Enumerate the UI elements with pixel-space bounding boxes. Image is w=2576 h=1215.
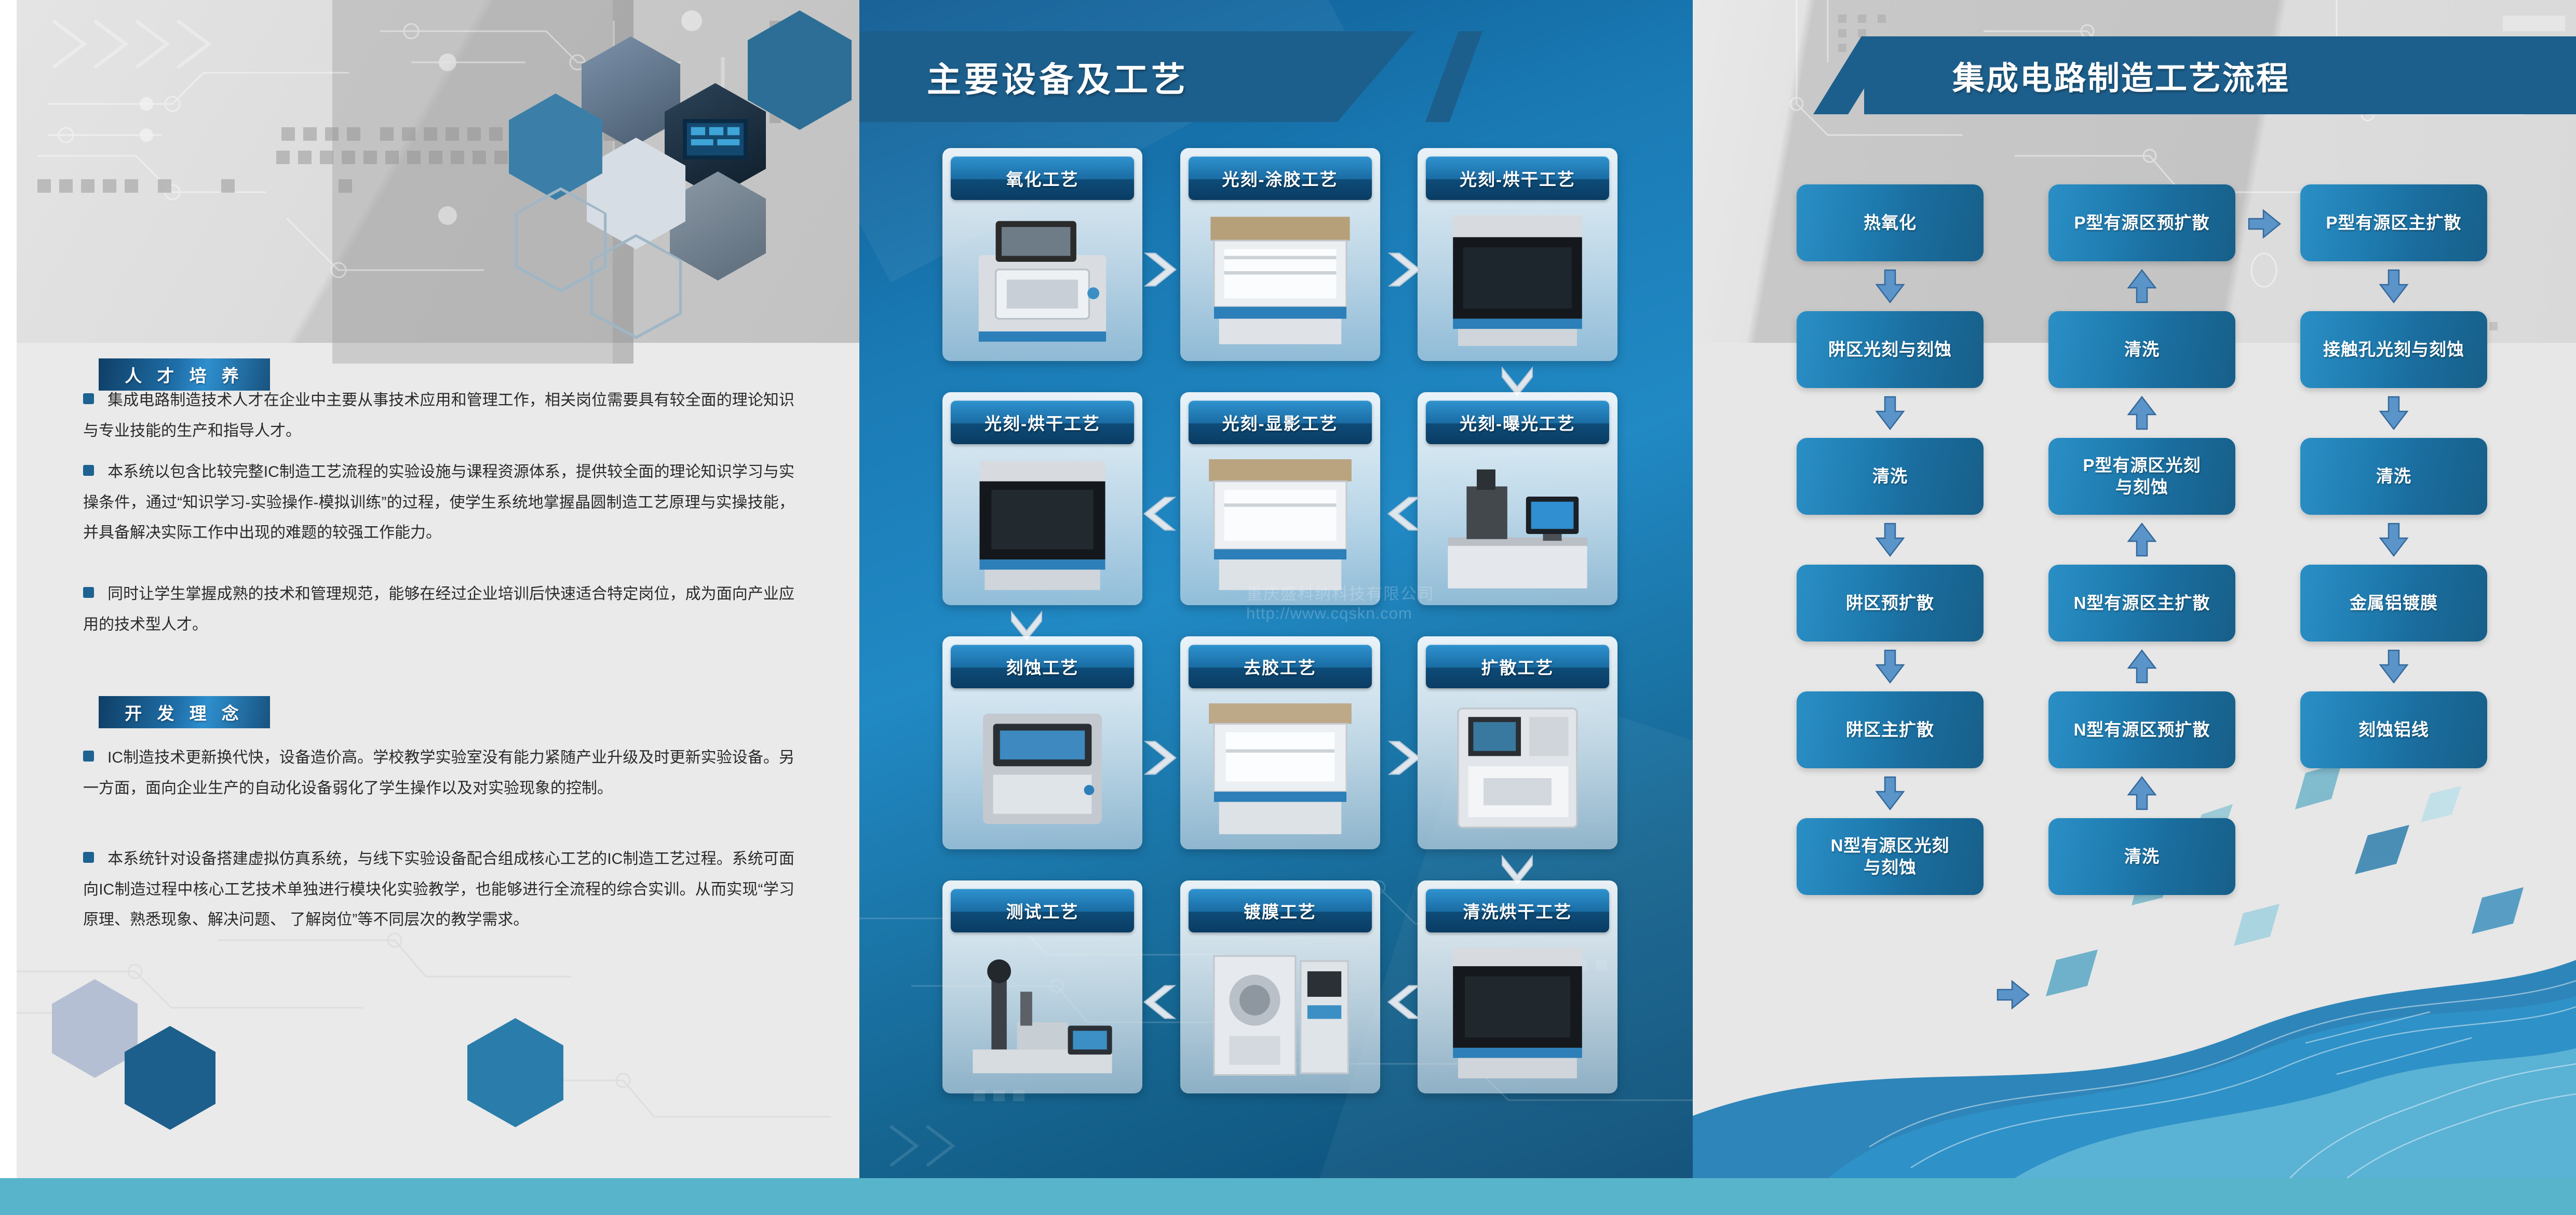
bullet-icon bbox=[83, 751, 94, 762]
chevron-right-icon bbox=[1142, 739, 1178, 777]
chevron-left-icon bbox=[1386, 983, 1422, 1021]
equipment-card-coating[interactable]: 光刻-涂胶工艺 bbox=[1180, 148, 1380, 361]
bullet-icon bbox=[83, 587, 94, 598]
arrow-right-connector-icon bbox=[1993, 979, 2034, 1010]
flow-step[interactable]: 接触孔光刻与刻蚀 bbox=[2300, 311, 2487, 388]
probe-station-photo bbox=[951, 941, 1134, 1085]
arrow-down-icon bbox=[1874, 776, 1906, 810]
equipment-label: 去胶工艺 bbox=[1189, 645, 1372, 688]
flow-column-2: P型有源区预扩散 清洗 P型有源区光刻 与刻蚀 N型有源区主扩散 N型有源区预扩… bbox=[2048, 184, 2235, 895]
paragraph-text: 同时让学生掌握成熟的技术和管理规范，能够在经过企业培训后快速适合特定岗位，成为面… bbox=[83, 585, 794, 633]
section-title-concept: 开 发 理 念 bbox=[99, 696, 270, 728]
equipment-label: 氧化工艺 bbox=[951, 156, 1134, 200]
arrow-down-icon bbox=[1874, 649, 1906, 684]
center-panel: 主要设备及工艺 氧化工艺 光刻-涂胶工艺 光刻-烘干工艺 bbox=[859, 0, 1693, 1178]
equipment-label: 测试工艺 bbox=[951, 889, 1134, 932]
left-panel: 人 才 培 养 集成电路制造技术人才在企业中主要从事技术应用和管理工作，相关岗位… bbox=[0, 0, 859, 1178]
bullet-icon bbox=[83, 852, 94, 863]
etcher-cabinet-photo bbox=[951, 697, 1134, 841]
flow-arrow-down bbox=[1797, 642, 1984, 691]
right-header-banner: 集成电路制造工艺流程 bbox=[1864, 36, 2576, 114]
flow-step-multiline[interactable]: P型有源区光刻 与刻蚀 bbox=[2048, 438, 2235, 515]
flow-arrow-down bbox=[1797, 768, 1984, 818]
flow-arrow-up bbox=[2048, 768, 2235, 818]
flow-step[interactable]: 清洗 bbox=[1797, 438, 1984, 515]
paragraph-talent-1: 集成电路制造技术人才在企业中主要从事技术应用和管理工作，相关岗位需要具有较全面的… bbox=[83, 385, 794, 446]
equipment-label: 光刻-烘干工艺 bbox=[1426, 156, 1609, 200]
equipment-card-diffusion[interactable]: 扩散工艺 bbox=[1418, 636, 1617, 849]
equipment-grid: 氧化工艺 光刻-涂胶工艺 光刻-烘干工艺 bbox=[942, 148, 1617, 1062]
arrow-up-icon bbox=[2126, 269, 2157, 303]
flow-step-label: P型有源区光刻 与刻蚀 bbox=[2083, 455, 2201, 498]
equipment-card-clean-dry[interactable]: 清洗烘干工艺 bbox=[1418, 880, 1617, 1093]
flow-step[interactable]: 清洗 bbox=[2048, 818, 2235, 895]
developer-hood-photo bbox=[1189, 452, 1372, 597]
arrow-down-icon bbox=[2378, 396, 2409, 430]
hex-bottom-3 bbox=[467, 1018, 563, 1127]
flow-arrow-down bbox=[2300, 642, 2487, 691]
equipment-label: 镀膜工艺 bbox=[1189, 889, 1372, 932]
arrow-right-connector-icon bbox=[2244, 208, 2286, 239]
arrow-down-icon bbox=[2378, 269, 2409, 303]
flow-arrow-down bbox=[2300, 515, 2487, 565]
equipment-row-3: 刻蚀工艺 去胶工艺 扩散工艺 bbox=[942, 636, 1617, 849]
equipment-card-etching[interactable]: 刻蚀工艺 bbox=[942, 636, 1142, 849]
equipment-label: 光刻-曝光工艺 bbox=[1426, 400, 1609, 444]
arrow-down-icon bbox=[2378, 523, 2409, 557]
equipment-label: 光刻-显影工艺 bbox=[1189, 400, 1372, 444]
equipment-card-bake-2[interactable]: 光刻-烘干工艺 bbox=[942, 392, 1142, 605]
flow-arrow-down bbox=[1797, 388, 1984, 438]
equipment-label: 清洗烘干工艺 bbox=[1426, 889, 1609, 932]
chevron-right-icon bbox=[1386, 250, 1422, 289]
hex-bottom-2 bbox=[125, 1026, 215, 1130]
flow-step[interactable]: 清洗 bbox=[2048, 311, 2235, 388]
flow-column-1: 热氧化 阱区光刻与刻蚀 清洗 阱区预扩散 阱区主扩散 N型有源区光刻 与刻蚀 bbox=[1797, 184, 1984, 895]
paragraph-text: 本系统以包含比较完整IC制造工艺流程的实验设施与课程资源体系，提供较全面的理论知… bbox=[83, 463, 794, 541]
arrow-down-icon bbox=[1874, 269, 1906, 303]
coater-hood-photo bbox=[1189, 208, 1372, 353]
equipment-card-coating-film[interactable]: 镀膜工艺 bbox=[1180, 880, 1380, 1093]
flow-step[interactable]: 刻蚀铝线 bbox=[2300, 691, 2487, 768]
chevron-right-icon bbox=[1142, 250, 1178, 289]
equipment-row-2: 光刻-烘干工艺 光刻-显影工艺 光刻-曝光工艺 bbox=[942, 392, 1617, 605]
equipment-label: 扩散工艺 bbox=[1426, 645, 1609, 688]
flow-step[interactable]: 热氧化 bbox=[1797, 184, 1984, 261]
flow-arrow-up bbox=[2048, 261, 2235, 311]
sputter-coater-photo bbox=[1189, 941, 1372, 1085]
flow-step[interactable]: P型有源区预扩散 bbox=[2048, 184, 2235, 261]
paragraph-text: IC制造技术更新换代快，设备造价高。学校教学实验室没有能力紧随产业升级及时更新实… bbox=[83, 749, 794, 797]
equipment-card-develop[interactable]: 光刻-显影工艺 bbox=[1180, 392, 1380, 605]
center-header-banner: 主要设备及工艺 bbox=[859, 31, 1415, 122]
center-header-title: 主要设备及工艺 bbox=[927, 52, 1189, 102]
equipment-label: 光刻-涂胶工艺 bbox=[1189, 156, 1372, 200]
arrow-up-icon bbox=[2126, 396, 2157, 430]
right-header-title: 集成电路制造工艺流程 bbox=[1952, 52, 2290, 99]
flow-arrow-up bbox=[2048, 388, 2235, 438]
flow-arrow-down bbox=[1797, 261, 1984, 311]
equipment-card-stripping[interactable]: 去胶工艺 bbox=[1180, 636, 1380, 849]
flow-step[interactable]: 清洗 bbox=[2300, 438, 2487, 515]
flow-arrow-up bbox=[2048, 642, 2235, 691]
paragraph-talent-3: 同时让学生掌握成熟的技术和管理规范，能够在经过企业培训后快速适合特定岗位，成为面… bbox=[83, 579, 794, 640]
right-panel: 集成电路制造工艺流程 热氧化 阱区光刻与刻蚀 清洗 阱区预扩散 阱区主扩散 N型… bbox=[1693, 0, 2576, 1178]
paragraph-talent-2: 本系统以包含比较完整IC制造工艺流程的实验设施与课程资源体系，提供较全面的理论知… bbox=[83, 457, 794, 549]
oxidation-furnace-photo bbox=[951, 208, 1134, 353]
arrow-down-icon bbox=[2378, 649, 2409, 684]
equipment-card-exposure[interactable]: 光刻-曝光工艺 bbox=[1418, 392, 1617, 605]
arrow-down-icon bbox=[1874, 523, 1906, 557]
paragraph-text: 集成电路制造技术人才在企业中主要从事技术应用和管理工作，相关岗位需要具有较全面的… bbox=[83, 392, 794, 439]
paragraph-text: 本系统针对设备搭建虚拟仿真系统，与线下实验设备配合组成核心工艺的IC制造工艺过程… bbox=[83, 850, 794, 928]
clean-dry-bench-photo bbox=[1426, 941, 1609, 1085]
flow-step-multiline[interactable]: N型有源区光刻 与刻蚀 bbox=[1797, 818, 1984, 895]
diffusion-furnace-photo bbox=[1426, 697, 1609, 841]
equipment-card-testing[interactable]: 测试工艺 bbox=[942, 880, 1142, 1093]
arrow-down-icon bbox=[1874, 396, 1906, 430]
bullet-icon bbox=[83, 393, 94, 404]
flow-arrow-up bbox=[2048, 515, 2235, 565]
flow-arrow-down bbox=[2300, 388, 2487, 438]
aligner-station-photo bbox=[1426, 452, 1609, 597]
stripper-hood-photo bbox=[1189, 697, 1372, 841]
equipment-card-lithography-bake[interactable]: 光刻-烘干工艺 bbox=[1418, 148, 1617, 361]
flow-step[interactable]: 阱区主扩散 bbox=[1797, 691, 1984, 768]
flow-column-3: P型有源区主扩散 接触孔光刻与刻蚀 清洗 金属铝镀膜 刻蚀铝线 bbox=[2300, 184, 2487, 768]
header-slash-icon bbox=[1425, 31, 1482, 122]
flow-step[interactable]: P型有源区主扩散 bbox=[2300, 184, 2487, 261]
arrow-up-icon bbox=[2126, 776, 2157, 810]
flow-step[interactable]: 阱区预扩散 bbox=[1797, 565, 1984, 642]
equipment-label: 刻蚀工艺 bbox=[951, 645, 1134, 688]
paragraph-concept-1: IC制造技术更新换代快，设备造价高。学校教学实验室没有能力紧随产业升级及时更新实… bbox=[83, 743, 794, 804]
paragraph-concept-2: 本系统针对设备搭建虚拟仿真系统，与线下实验设备配合组成核心工艺的IC制造工艺过程… bbox=[83, 844, 794, 936]
flow-step-label: N型有源区光刻 与刻蚀 bbox=[1831, 835, 1950, 878]
footer-band bbox=[0, 1178, 2576, 1215]
bake-oven-2-photo bbox=[951, 452, 1134, 597]
flow-arrow-down bbox=[1797, 515, 1984, 565]
equipment-label: 光刻-烘干工艺 bbox=[951, 400, 1134, 444]
equipment-row-4: 测试工艺 镀膜工艺 清洗烘干工艺 bbox=[942, 880, 1617, 1093]
arrow-up-icon bbox=[2126, 523, 2157, 557]
arrow-up-icon bbox=[2126, 649, 2157, 684]
flow-step[interactable]: N型有源区预扩散 bbox=[2048, 691, 2235, 768]
bake-oven-photo bbox=[1426, 208, 1609, 353]
equipment-card-oxidation[interactable]: 氧化工艺 bbox=[942, 148, 1142, 361]
bullet-icon bbox=[83, 465, 94, 476]
flow-step[interactable]: 阱区光刻与刻蚀 bbox=[1797, 311, 1984, 388]
chevron-left-icon bbox=[1386, 495, 1422, 533]
chevron-right-icon bbox=[1386, 739, 1422, 777]
equipment-row-1: 氧化工艺 光刻-涂胶工艺 光刻-烘干工艺 bbox=[942, 148, 1617, 361]
flow-step[interactable]: 金属铝镀膜 bbox=[2300, 565, 2487, 642]
flow-step[interactable]: N型有源区主扩散 bbox=[2048, 565, 2235, 642]
chevron-left-icon bbox=[1142, 495, 1178, 533]
chevron-left-icon bbox=[1142, 983, 1178, 1021]
flow-arrow-down bbox=[2300, 261, 2487, 311]
